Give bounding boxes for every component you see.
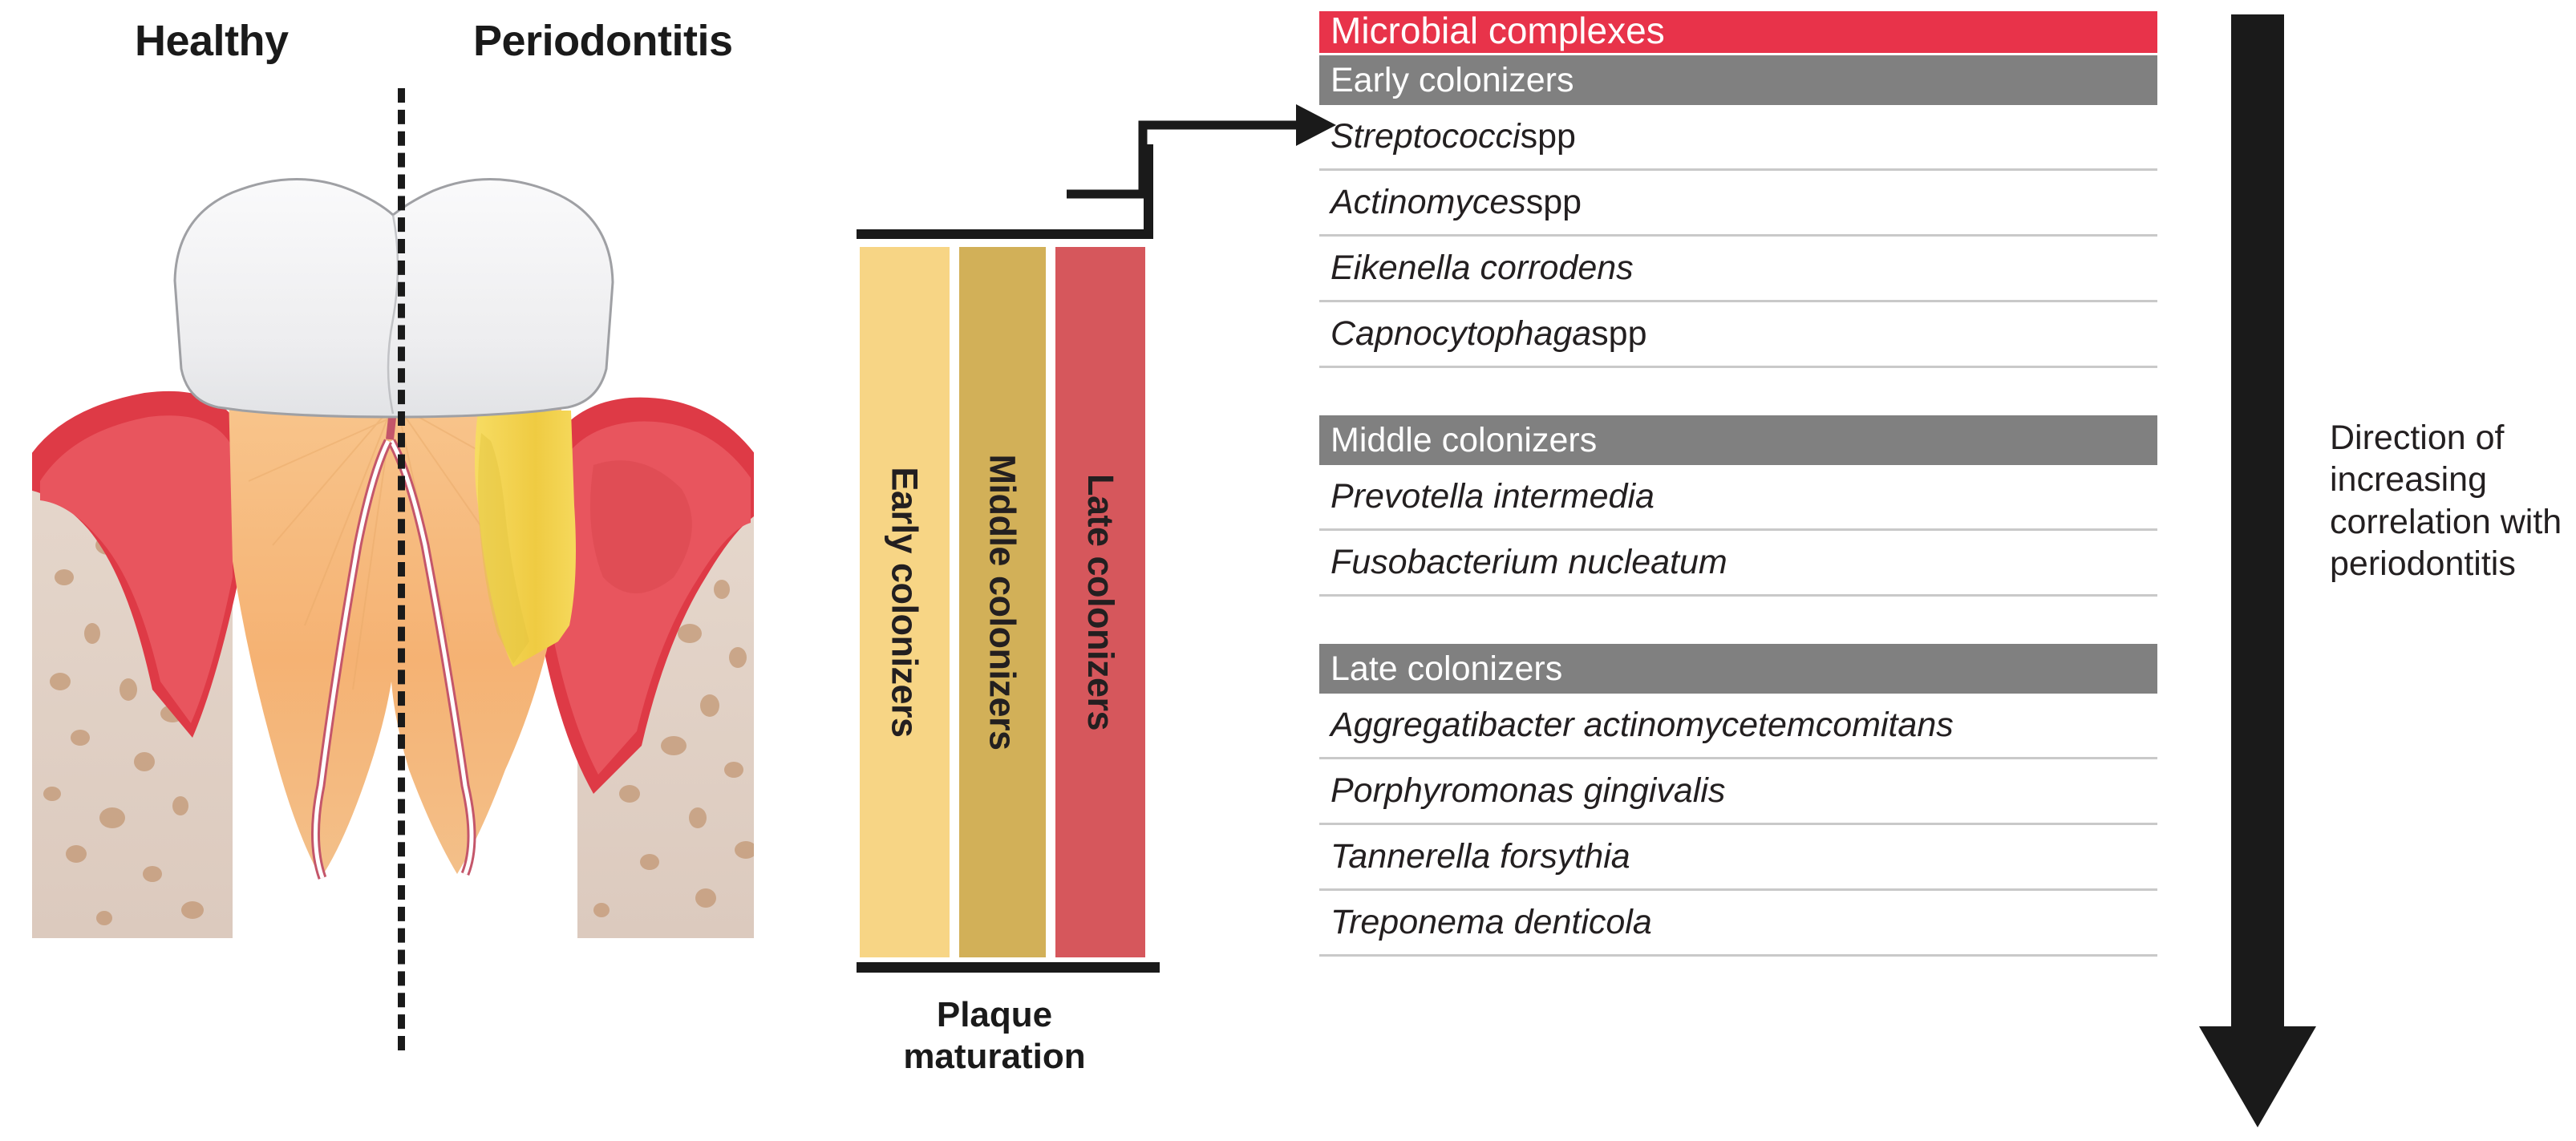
group-spacer bbox=[1319, 368, 2157, 413]
label-periodontitis: Periodontitis bbox=[473, 16, 733, 66]
species-name: Prevotella intermedia bbox=[1331, 477, 1655, 516]
chart-baseline-rule bbox=[857, 962, 1160, 973]
species-name: Aggregatibacter actinomycetemcomitans bbox=[1331, 706, 1954, 745]
bracket-top-rule bbox=[857, 229, 1153, 239]
enamel-crown bbox=[175, 179, 613, 417]
table-row: Prevotella intermedia bbox=[1319, 465, 2157, 531]
bar-early-colonizers: Early colonizers bbox=[860, 247, 950, 957]
microbial-complexes-table: Microbial complexes Early colonizers Str… bbox=[1319, 11, 2157, 957]
table-row: Actinomyces spp bbox=[1319, 171, 2157, 237]
group-header-early: Early colonizers bbox=[1319, 55, 2157, 105]
bar-label-middle: Middle colonizers bbox=[982, 454, 1023, 750]
label-healthy: Healthy bbox=[135, 16, 289, 66]
species-suffix: spp bbox=[1591, 314, 1646, 354]
table-row: Aggregatibacter actinomycetemcomitans bbox=[1319, 694, 2157, 759]
bar-label-early: Early colonizers bbox=[884, 467, 925, 737]
table-row: Streptococci spp bbox=[1319, 105, 2157, 171]
down-arrow-icon bbox=[2197, 14, 2318, 1129]
table-row: Capnocytophaga spp bbox=[1319, 302, 2157, 368]
species-name: Streptococci bbox=[1331, 117, 1521, 156]
plaque-maturation-caption: Plaque maturation bbox=[818, 994, 1171, 1078]
group-header-middle: Middle colonizers bbox=[1319, 415, 2157, 465]
plaque-caption-line1: Plaque bbox=[818, 994, 1171, 1036]
species-name: Porphyromonas gingivalis bbox=[1331, 771, 1725, 811]
species-name: Capnocytophaga bbox=[1331, 314, 1591, 354]
table-row: Tannerella forsythia bbox=[1319, 825, 2157, 891]
species-suffix: spp bbox=[1521, 117, 1576, 156]
bar-late-colonizers: Late colonizers bbox=[1055, 247, 1145, 957]
group-header-late: Late colonizers bbox=[1319, 644, 2157, 694]
direction-caption: Direction of increasing correlation with… bbox=[2330, 417, 2570, 585]
table-title: Microbial complexes bbox=[1319, 11, 2157, 53]
table-row: Fusobacterium nucleatum bbox=[1319, 531, 2157, 597]
tooth-illustration-panel: Healthy Periodontitis bbox=[0, 0, 802, 1058]
bar-middle-colonizers: Middle colonizers bbox=[959, 247, 1046, 957]
table-row: Porphyromonas gingivalis bbox=[1319, 759, 2157, 825]
species-suffix: spp bbox=[1526, 183, 1582, 222]
species-name: Eikenella corrodens bbox=[1331, 249, 1634, 288]
table-row: Eikenella corrodens bbox=[1319, 237, 2157, 302]
bar-label-late: Late colonizers bbox=[1079, 474, 1121, 730]
bracket-riser bbox=[1144, 144, 1153, 234]
table-row: Treponema denticola bbox=[1319, 891, 2157, 957]
species-name: Tannerella forsythia bbox=[1331, 837, 1630, 876]
species-name: Treponema denticola bbox=[1331, 903, 1652, 942]
plaque-maturation-chart: Early colonizers Middle colonizers Late … bbox=[818, 144, 1155, 1058]
group-spacer bbox=[1319, 597, 2157, 641]
plaque-caption-line2: maturation bbox=[818, 1036, 1171, 1078]
species-name: Fusobacterium nucleatum bbox=[1331, 543, 1727, 582]
healthy-periodontitis-divider bbox=[398, 88, 405, 1050]
species-name: Actinomyces bbox=[1331, 183, 1526, 222]
tooth-cross-section-diagram bbox=[32, 128, 754, 1010]
